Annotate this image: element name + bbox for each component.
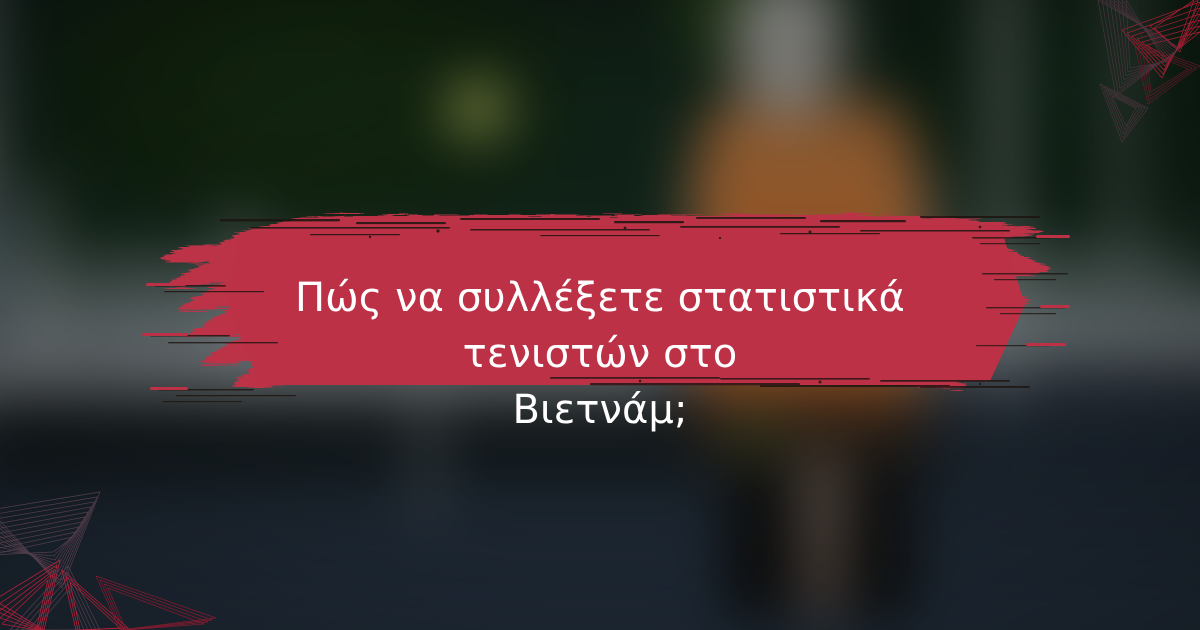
social-card: Πώς να συλλέξετε στατιστικά τενιστών στο…: [0, 0, 1200, 630]
headline-line-2: Βιετνάμ;: [512, 387, 687, 433]
headline-line-1: Πώς να συλλέξετε στατιστικά τενιστών στο: [295, 275, 905, 377]
page-title: Πώς να συλλέξετε στατιστικά τενιστών στο…: [200, 270, 1000, 438]
